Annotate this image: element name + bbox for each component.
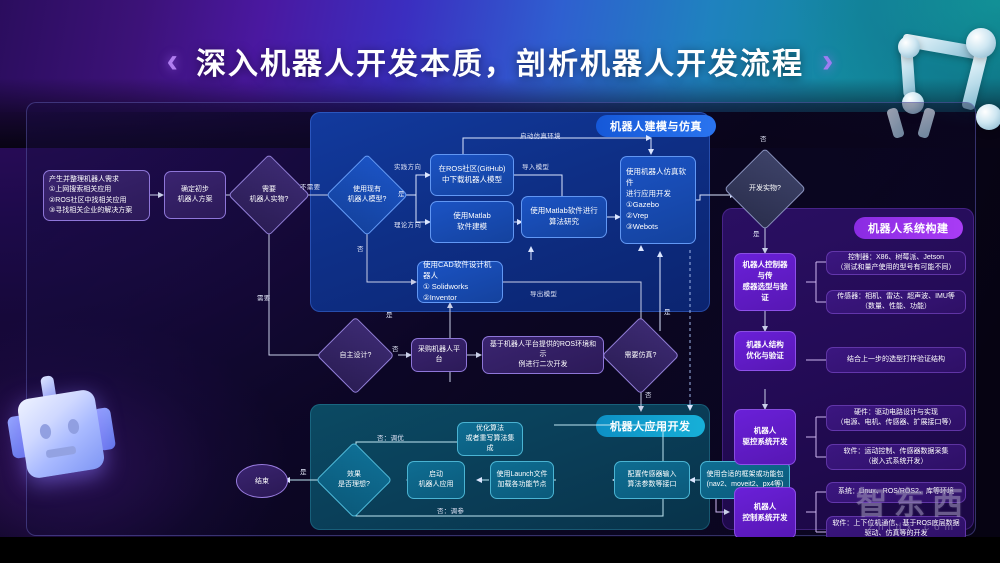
edge-label-practice: 实践方向 <box>394 161 421 171</box>
node-config-sensor[interactable]: 配置传感器输入 算法参数等接口 <box>614 461 690 499</box>
node-launch-file[interactable]: 使用Launch文件 加载各功能节点 <box>490 461 554 499</box>
detail-controller[interactable]: 控制器：X86、树莓派、Jetson （测试和量产使用的型号有可能不同） <box>826 251 966 275</box>
node-plan[interactable]: 确定初步 机器人方案 <box>164 171 226 219</box>
region-badge-application: 机器人应用开发 <box>596 415 705 437</box>
node-drive-system-development[interactable]: 机器人 驱控系统开发 <box>734 409 796 465</box>
detail-sensor[interactable]: 传感器：相机、雷达、超声波、IMU等 （数量、性能、功能） <box>826 290 966 314</box>
page-title: 深入机器人开发本质，剖析机器人开发流程 <box>196 39 804 83</box>
detail-drive-hardware[interactable]: 硬件：驱动电路设计与实现 （电源、电机、传感器、扩展接口等） <box>826 405 966 431</box>
edge-label-dev-yes: 是 <box>753 228 760 238</box>
edge-label-no-tune-param: 否：调参 <box>437 505 464 515</box>
edge-label-export-model: 导出模型 <box>530 288 557 298</box>
edge-label-start-sim-env: 启动仿真环境 <box>520 130 561 140</box>
edge-label-dev-no: 否 <box>760 133 767 143</box>
watermark-zh: 智东西 <box>856 488 970 519</box>
decision-develop-physical[interactable]: 开发实物? <box>736 160 794 218</box>
node-cad-design[interactable]: 使用CAD软件设计机器人 ① Solidworks ②Inventor <box>417 261 503 303</box>
node-controller-sensor-selection[interactable]: 机器人控制器与传 感器选型与验证 <box>734 253 796 311</box>
bottom-letterbox <box>0 537 1000 563</box>
node-optimize-algorithm[interactable]: 优化算法 或者重写算法集成 <box>457 422 523 456</box>
chevron-left-icon: ‹ <box>167 44 178 78</box>
detail-drive-software[interactable]: 软件：运动控制、传感器数据采集 （嵌入式系统开发） <box>826 444 966 470</box>
decision-need-physical[interactable]: 需要 机器人实物? <box>240 166 298 224</box>
decision-use-existing-model[interactable]: 使用现有 机器人模型? <box>338 166 396 224</box>
watermark: 智东西 zhidx.com <box>856 488 970 533</box>
edge-label-no-model: 否 <box>357 243 364 253</box>
region-badge-system: 机器人系统构建 <box>854 217 963 239</box>
edge-label-theory: 理论方向 <box>394 219 421 229</box>
slide-header: ‹ 深入机器人开发本质，剖析机器人开发流程 › <box>0 34 1000 88</box>
edge-label-no-self-design: 否 <box>392 343 399 353</box>
watermark-en: zhidx.com <box>856 522 970 533</box>
node-simulation-software[interactable]: 使用机器人仿真软件 进行应用开发 ①Gazebo ②Vrep ③Webots <box>620 156 696 244</box>
edge-label-yes-self-design: 是 <box>386 309 393 319</box>
edge-label-import-model: 导入模型 <box>522 161 549 171</box>
robot-head-illustration <box>8 372 114 492</box>
node-end[interactable]: 结束 <box>236 464 288 498</box>
edge-label-no-tune-alg: 否：调优 <box>377 432 404 442</box>
decision-effect-ok[interactable]: 效果 是否理想? <box>327 453 381 507</box>
node-control-system-development[interactable]: 机器人 控制系统开发 <box>734 487 796 539</box>
edge-label-not-needed: 不需要 <box>300 181 320 191</box>
edge-label-yes-model: 是 <box>398 188 405 198</box>
node-matlab-model[interactable]: 使用Matlab 软件建模 <box>430 201 514 243</box>
region-badge-simulation: 机器人建模与仿真 <box>596 115 716 137</box>
node-download-ros-model[interactable]: 在ROS社区(GitHub) 中下载机器人模型 <box>430 154 514 196</box>
node-requirement[interactable]: 产生并整理机器人需求 ①上网搜索相关应用 ②ROS社区中找相关应用 ③寻找相关企… <box>43 170 150 221</box>
edge-label-effect-yes: 是 <box>300 466 307 476</box>
node-matlab-algorithm[interactable]: 使用Matlab软件进行 算法研究 <box>521 196 607 238</box>
node-purchase-platform[interactable]: 采购机器人平台 <box>411 338 467 372</box>
decision-need-simulation[interactable]: 需要仿真? <box>613 328 668 383</box>
node-start-application[interactable]: 启动 机器人应用 <box>407 461 465 499</box>
edge-label-sim-no: 否 <box>645 389 652 399</box>
node-secondary-development[interactable]: 基于机器人平台提供的ROS环境和示 例进行二次开发 <box>482 336 604 374</box>
chevron-right-icon: › <box>822 44 833 78</box>
node-structure-optimization[interactable]: 机器人结构 优化与验证 <box>734 331 796 371</box>
slide-canvas: ‹ 深入机器人开发本质，剖析机器人开发流程 › 机器人建模与仿真 机器人应用开发… <box>0 0 1000 563</box>
decision-self-design[interactable]: 自主设计? <box>328 328 383 383</box>
detail-structure[interactable]: 结合上一步的选型打样验证结构 <box>826 347 966 373</box>
edge-label-needed: 需要 <box>257 292 271 302</box>
edge-label-sim-yes: 是 <box>664 306 671 316</box>
